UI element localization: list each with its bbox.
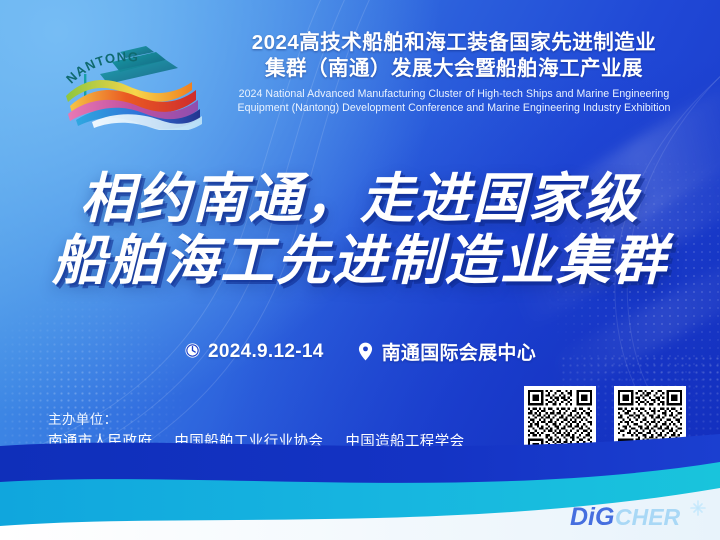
watermark-text-dark: DiG: [570, 503, 614, 531]
event-date-group: 2024.9.12-14: [184, 341, 324, 363]
conference-title-cn-line2: 集群（南通）发展大会暨船舶海工产业展: [228, 56, 680, 82]
event-venue: 南通国际会展中心: [382, 338, 536, 365]
watermark-text-light: CHER: [615, 504, 681, 530]
headline-line-2: 船舶海工先进制造业集群: [0, 230, 720, 292]
event-poster: NANTONG 2024高技术船舶和海工装备国家先进制造业 集群（南通）发展大会…: [0, 0, 720, 540]
map-pin-icon: [358, 342, 375, 361]
conference-title-en-line2: Equipment (Nantong) Development Conferen…: [228, 101, 680, 115]
nantong-logo: NANTONG: [62, 34, 202, 130]
header-title-block: 2024高技术船舶和海工装备国家先进制造业 集群（南通）发展大会暨船舶海工产业展…: [228, 30, 680, 116]
event-date: 2024.9.12-14: [208, 341, 324, 363]
digcher-watermark: DiG CHER: [568, 500, 708, 534]
headline-line-1: 相约南通，走进国家级: [0, 168, 720, 230]
event-meta: 2024.9.12-14 南通国际会展中心: [0, 338, 720, 365]
organizers-label: 主办单位：: [48, 410, 465, 430]
conference-title-cn-line1: 2024高技术船舶和海工装备国家先进制造业: [228, 30, 680, 56]
clock-icon: [184, 342, 201, 361]
ribbon-waves: [66, 80, 202, 130]
main-headline: 相约南通，走进国家级 船舶海工先进制造业集群: [0, 168, 720, 292]
event-venue-group: 南通国际会展中心: [358, 338, 536, 365]
sparkle-icon: [691, 501, 705, 515]
conference-title-en-line1: 2024 National Advanced Manufacturing Clu…: [228, 87, 680, 101]
